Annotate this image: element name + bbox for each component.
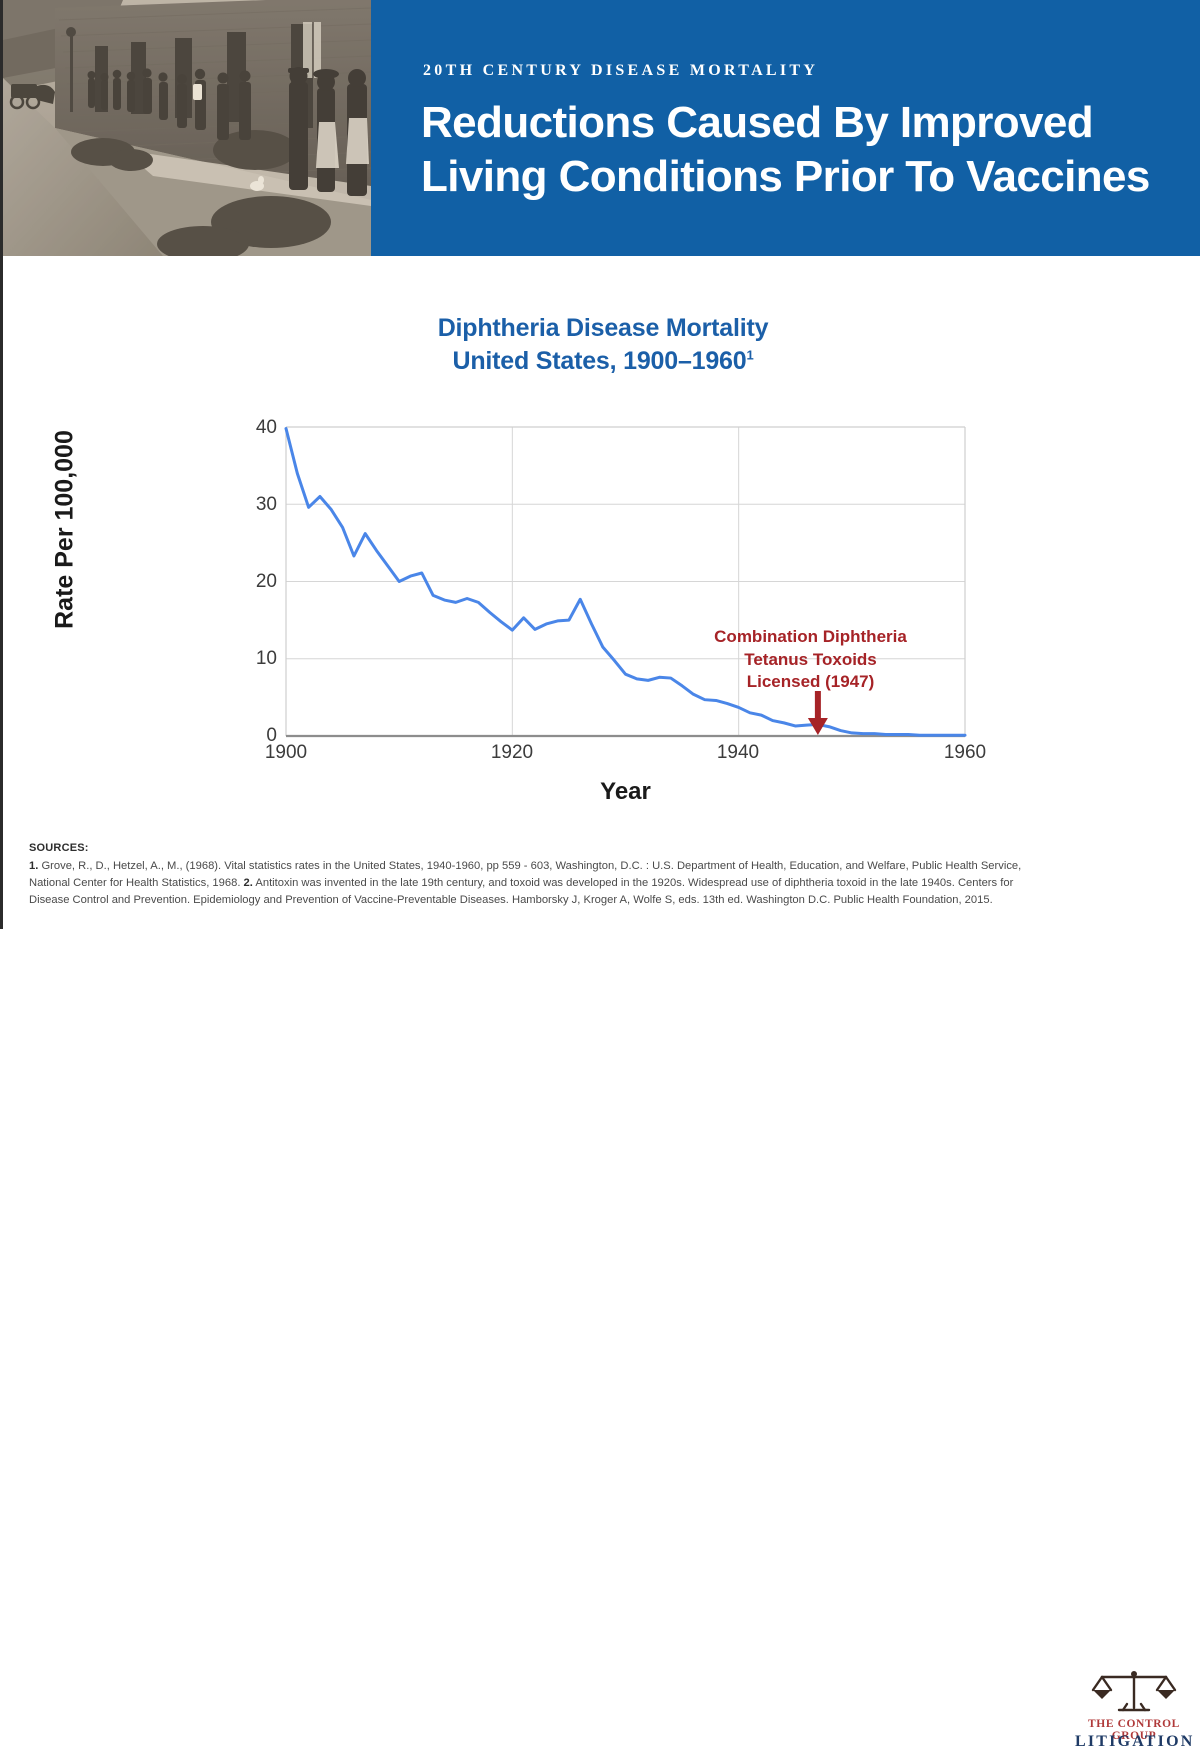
- chart-title-line-1: Diphtheria Disease Mortality: [3, 312, 1200, 345]
- page-header: 20TH CENTURY DISEASE MORTALITY Reduction…: [3, 0, 1200, 256]
- annotation-line-2: Tetanus Toxoids: [683, 649, 938, 672]
- y-axis-label: Rate Per 100,000: [51, 400, 80, 660]
- headline-line-1: Reductions Caused By Improved: [421, 98, 1093, 147]
- chart-title-superscript: 1: [746, 348, 753, 363]
- page-title: Reductions Caused By Improved Living Con…: [421, 96, 1181, 204]
- y-tick-20: 20: [235, 571, 277, 593]
- x-tick-1940: 1940: [693, 742, 783, 764]
- annotation-line-1: Combination Diphtheria: [683, 626, 938, 649]
- y-tick-0: 0: [235, 725, 277, 747]
- x-axis-label: Year: [286, 778, 965, 806]
- y-tick-40: 40: [235, 417, 277, 439]
- headline-line-2: Living Conditions Prior To Vaccines: [421, 150, 1181, 204]
- header-blue-band: 20TH CENTURY DISEASE MORTALITY Reduction…: [371, 0, 1200, 256]
- annotation-line-3: Licensed (1947): [683, 671, 938, 694]
- x-tick-1900: 1900: [241, 742, 331, 764]
- scales-of-justice-icon: [1089, 1670, 1179, 1716]
- photo-illustration: [3, 0, 371, 256]
- control-group-logo[interactable]: THE CONTROL GROUP LITIGATION: [1075, 1670, 1193, 1754]
- header-eyebrow: 20TH CENTURY DISEASE MORTALITY: [423, 62, 818, 80]
- historic-street-photo: [3, 0, 371, 256]
- logo-line-2: LITIGATION: [1075, 1733, 1193, 1751]
- y-tick-10: 10: [235, 648, 277, 670]
- chart-title-line-2-text: United States, 1900–1960: [452, 347, 746, 375]
- sources-label: SOURCES:: [29, 842, 89, 854]
- sources-text: 1. Grove, R., D., Hetzel, A., M., (1968)…: [29, 858, 1049, 909]
- source-2-number: 2.: [244, 877, 253, 889]
- page-footer: SOURCES: 1. Grove, R., D., Hetzel, A., M…: [3, 832, 1200, 929]
- chart-title: Diphtheria Disease Mortality United Stat…: [3, 312, 1200, 378]
- y-tick-30: 30: [235, 494, 277, 516]
- chart-title-line-2: United States, 1900–19601: [3, 345, 1200, 378]
- x-tick-1960: 1960: [920, 742, 1010, 764]
- annotation-vaccine-licensed: Combination Diphtheria Tetanus Toxoids L…: [683, 626, 938, 694]
- x-tick-1920: 1920: [467, 742, 557, 764]
- source-1-number: 1.: [29, 860, 38, 872]
